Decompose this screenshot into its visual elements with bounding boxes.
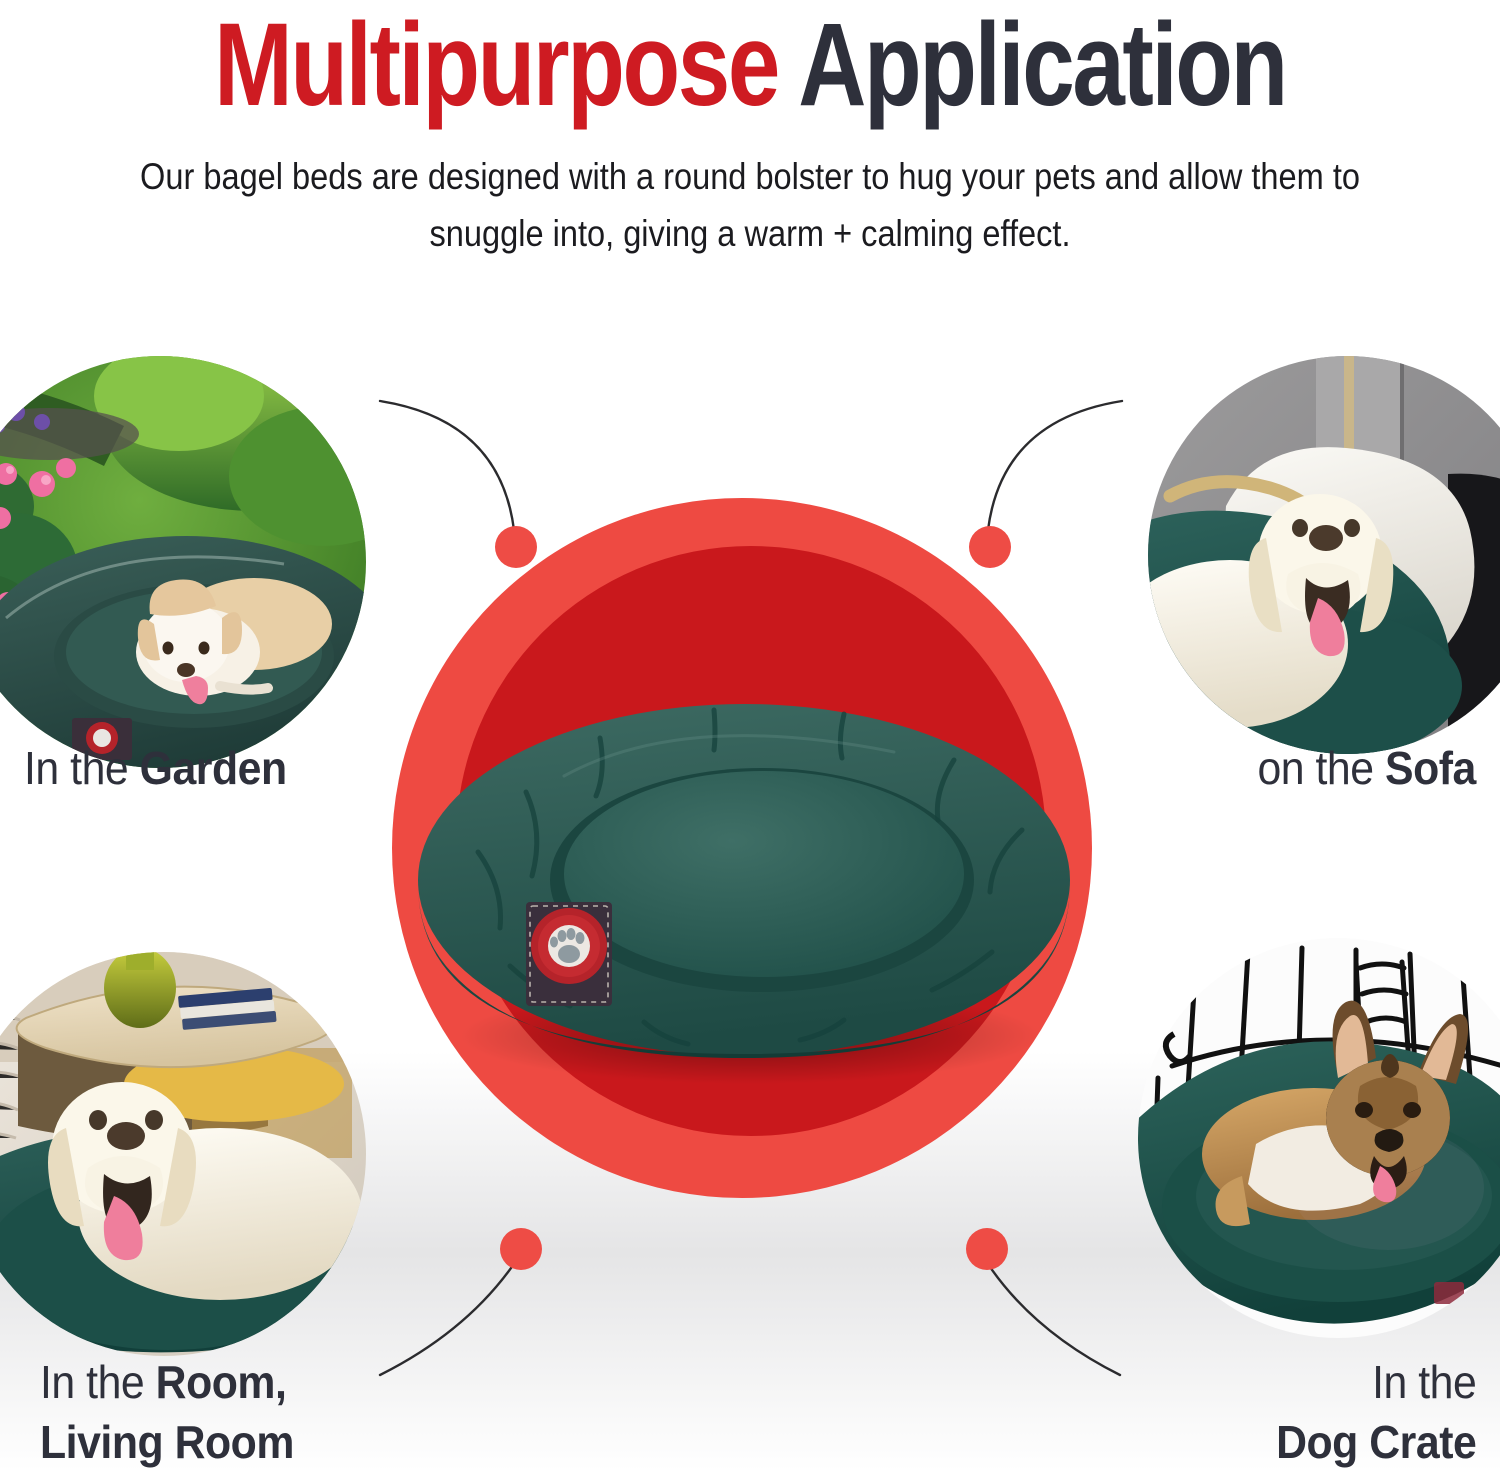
connector-dot-top-right (969, 526, 1011, 568)
subtitle: Our bagel beds are designed with a round… (130, 126, 1371, 262)
caption-sofa-bold: Sofa (1385, 742, 1476, 794)
caption-garden-plain: In the (24, 742, 140, 794)
caption-living-room: In the Room, Living Room (40, 1352, 294, 1472)
page-title: Multipurpose Application (150, 0, 1350, 126)
caption-living-room-plain: In the (40, 1356, 156, 1408)
subtitle-line-1: Our bagel beds are designed with a round… (140, 156, 1360, 197)
header: Multipurpose Application Our bagel beds … (0, 0, 1500, 262)
caption-garden-bold: Garden (140, 742, 287, 794)
photo-dog-crate (1138, 938, 1500, 1338)
caption-dog-crate-plain: In the (1372, 1356, 1476, 1408)
connector-dot-top-left (495, 526, 537, 568)
hero-product (392, 498, 1112, 1218)
caption-living-room-bold-1: Room, (156, 1356, 287, 1408)
caption-garden: In the Garden (24, 738, 287, 798)
brand-tag (526, 902, 612, 1006)
living-room-photo-illustration (0, 952, 366, 1356)
photo-living-room (0, 952, 366, 1356)
hero-bed-illustration (414, 684, 1074, 1084)
caption-dog-crate-bold: Dog Crate (1276, 1416, 1476, 1468)
connector-dot-bottom-left (500, 1228, 542, 1270)
sofa-photo-illustration (1148, 356, 1500, 754)
caption-dog-crate: In the Dog Crate (1276, 1352, 1476, 1472)
dog-crate-photo-illustration (1138, 938, 1500, 1338)
caption-living-room-bold-2: Living Room (40, 1416, 294, 1468)
title-word-red: Multipurpose (214, 0, 778, 131)
title-word-dark: Application (798, 0, 1286, 131)
connector-dot-bottom-right (966, 1228, 1008, 1270)
garden-photo-illustration (0, 356, 366, 768)
caption-sofa: on the Sofa (1258, 738, 1476, 798)
subtitle-line-2: snuggle into, giving a warm + calming ef… (430, 213, 1071, 254)
photo-sofa (1148, 356, 1500, 754)
photo-garden (0, 356, 366, 768)
caption-sofa-plain: on the (1258, 742, 1386, 794)
